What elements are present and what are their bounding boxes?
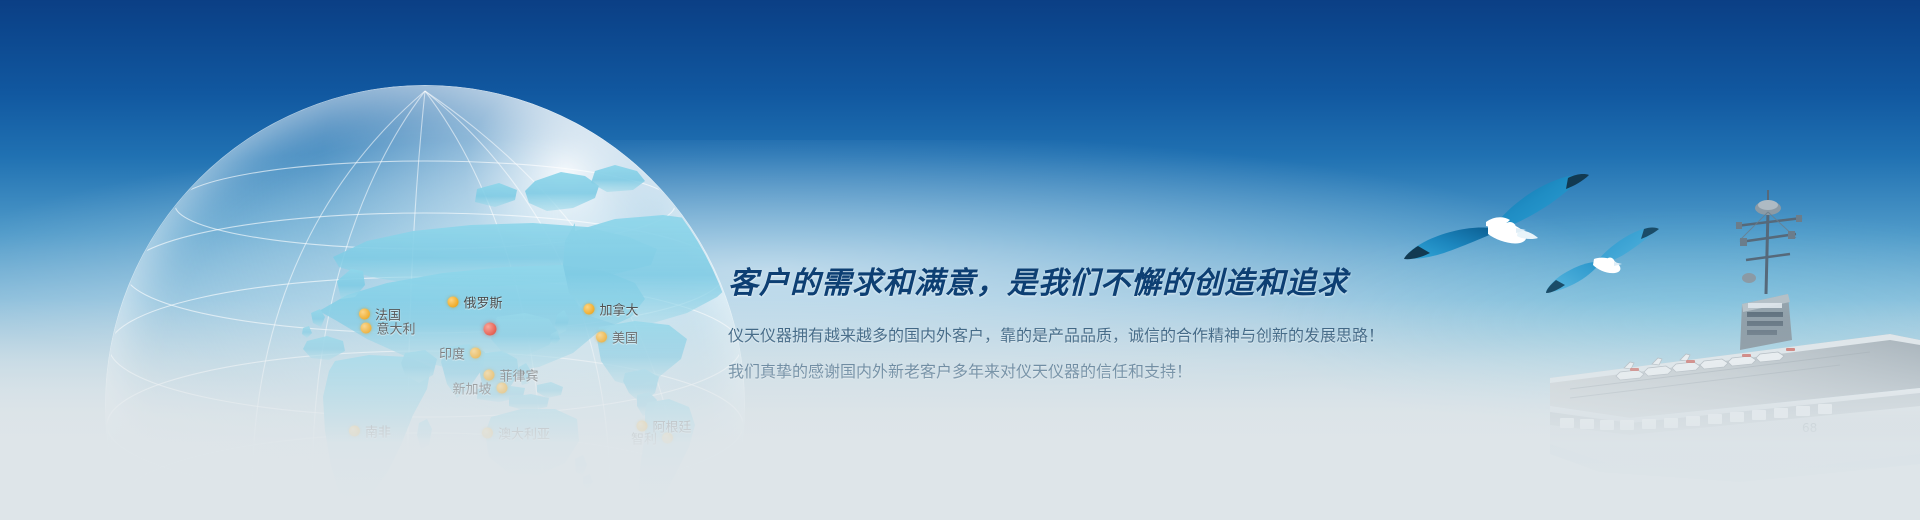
world-globe: 法国意大利俄罗斯印度菲律宾新加坡南非澳大利亚加拿大美国智利阿根廷 — [105, 85, 745, 520]
map-marker-label: 新加坡 — [452, 379, 491, 398]
map-marker-highlight — [484, 323, 497, 336]
copy-block: 客户的需求和满意，是我们不懈的创造和追求 仪天仪器拥有越来越多的国内外客户，靠的… — [728, 258, 1384, 394]
map-marker-label: 澳大利亚 — [498, 424, 550, 443]
location-pin-icon — [447, 297, 458, 308]
map-marker-2: 俄罗斯 — [447, 293, 502, 312]
location-pin-icon — [470, 348, 481, 359]
map-marker-label: 美国 — [612, 328, 638, 347]
map-marker-4: 印度 — [439, 344, 481, 363]
location-pin-icon — [596, 332, 607, 343]
map-marker-6: 新加坡 — [452, 379, 507, 398]
body-line-2: 我们真挚的感谢国内外新老客户多年来对仪天仪器的信任和支持！ — [728, 358, 1384, 382]
map-marker-label: 意大利 — [376, 319, 415, 338]
landmasses — [302, 165, 747, 520]
map-marker-12: 阿根廷 — [636, 417, 691, 436]
location-pin-icon — [636, 421, 647, 432]
hero-banner: 法国意大利俄罗斯印度菲律宾新加坡南非澳大利亚加拿大美国智利阿根廷 客户的需求和满… — [0, 0, 1920, 520]
map-marker-8: 澳大利亚 — [482, 424, 550, 443]
location-pin-icon — [349, 426, 360, 437]
map-marker-label: 俄罗斯 — [463, 293, 502, 312]
map-marker-9: 加拿大 — [583, 300, 638, 319]
globe-graticule-and-landmasses — [105, 85, 745, 520]
map-marker-label: 阿根廷 — [652, 417, 691, 436]
body-line-1: 仪天仪器拥有越来越多的国内外客户，靠的是产品品质，诚信的合作精神与创新的发展思路… — [728, 322, 1384, 346]
page-title: 客户的需求和满意，是我们不懈的创造和追求 — [728, 258, 1384, 302]
map-marker-1: 意大利 — [360, 319, 415, 338]
map-marker-7: 南非 — [349, 422, 391, 441]
location-pin-icon — [497, 383, 508, 394]
location-pin-icon — [583, 304, 594, 315]
map-marker-label: 加拿大 — [599, 300, 638, 319]
location-pin-icon — [360, 323, 371, 334]
aircraft-carrier-icon: 68 — [1590, 182, 1920, 482]
svg-text:68: 68 — [1802, 421, 1817, 435]
map-marker-label: 印度 — [439, 344, 465, 363]
location-pin-highlight-icon — [484, 323, 497, 336]
map-marker-10: 美国 — [596, 328, 638, 347]
map-marker-label: 南非 — [365, 422, 391, 441]
location-pin-icon — [482, 428, 493, 439]
